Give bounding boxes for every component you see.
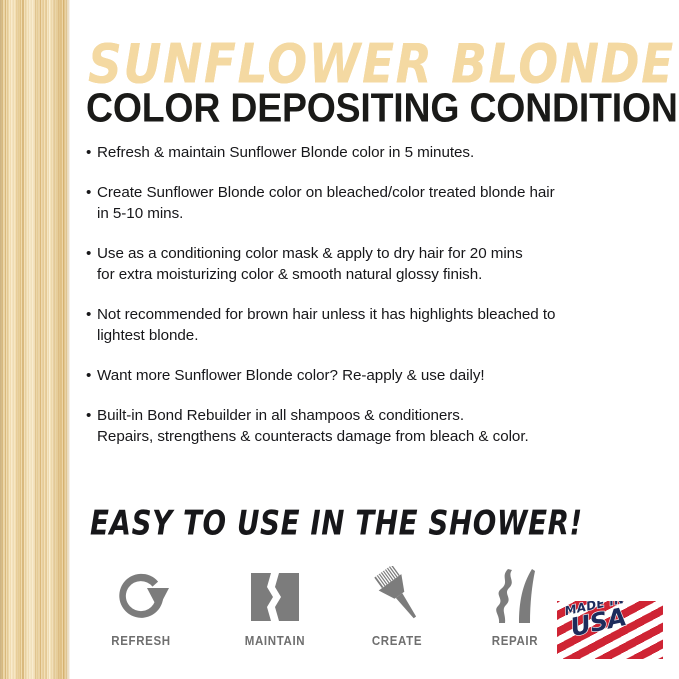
refresh-circular-arrow-icon bbox=[86, 566, 196, 628]
product-infographic: SUNFLOWER BLONDE COLOR DEPOSITING CONDIT… bbox=[0, 0, 679, 679]
usage-step-maintain: MAINTAIN bbox=[220, 566, 330, 658]
list-item-text: Want more Sunflower Blonde color? Re-app… bbox=[97, 365, 646, 386]
repair-hair-strands-icon bbox=[460, 566, 570, 628]
bullet-icon: • bbox=[86, 243, 91, 264]
usage-step-refresh: REFRESH bbox=[86, 566, 196, 658]
usage-headline: EASY TO USE IN THE SHOWER! bbox=[90, 503, 583, 543]
list-item-text: Create Sunflower Blonde color on bleache… bbox=[97, 182, 646, 224]
maintain-split-panels-icon bbox=[220, 566, 330, 628]
list-item: • Use as a conditioning color mask & app… bbox=[86, 243, 646, 285]
hair-swatch-image bbox=[0, 0, 70, 679]
usage-step-repair: REPAIR bbox=[460, 566, 570, 658]
usage-step-label: REPAIR bbox=[464, 634, 565, 648]
product-subtitle: COLOR DEPOSITING CONDITIONER bbox=[86, 86, 657, 131]
list-item: • Want more Sunflower Blonde color? Re-a… bbox=[86, 365, 646, 386]
list-item: • Create Sunflower Blonde color on bleac… bbox=[86, 182, 646, 224]
list-item-text: Refresh & maintain Sunflower Blonde colo… bbox=[97, 142, 646, 163]
list-item: • Not recommended for brown hair unless … bbox=[86, 304, 646, 346]
list-item: • Built-in Bond Rebuilder in all shampoo… bbox=[86, 405, 646, 447]
usage-step-label: REFRESH bbox=[90, 634, 191, 648]
list-item: • Refresh & maintain Sunflower Blonde co… bbox=[86, 142, 646, 163]
hair-sheen-overlay bbox=[0, 0, 70, 679]
made-in-usa-badge: MADE IN USA bbox=[557, 601, 663, 659]
hair-edge-fade bbox=[66, 0, 70, 679]
list-item-text: Not recommended for brown hair unless it… bbox=[97, 304, 646, 346]
usage-step-label: MAINTAIN bbox=[224, 634, 325, 648]
list-item-text: Use as a conditioning color mask & apply… bbox=[97, 243, 646, 285]
usage-step-label: CREATE bbox=[346, 634, 447, 648]
bullet-icon: • bbox=[86, 182, 91, 203]
bullet-icon: • bbox=[86, 405, 91, 426]
list-item-text: Built-in Bond Rebuilder in all shampoos … bbox=[97, 405, 646, 447]
usage-icon-row: REFRESH MAINTAIN bbox=[86, 566, 546, 658]
benefits-list: • Refresh & maintain Sunflower Blonde co… bbox=[86, 142, 646, 447]
bullet-icon: • bbox=[86, 142, 91, 163]
bullet-icon: • bbox=[86, 365, 91, 386]
usage-step-create: CREATE bbox=[342, 566, 452, 658]
create-tint-brush-icon bbox=[342, 566, 452, 628]
bullet-icon: • bbox=[86, 304, 91, 325]
